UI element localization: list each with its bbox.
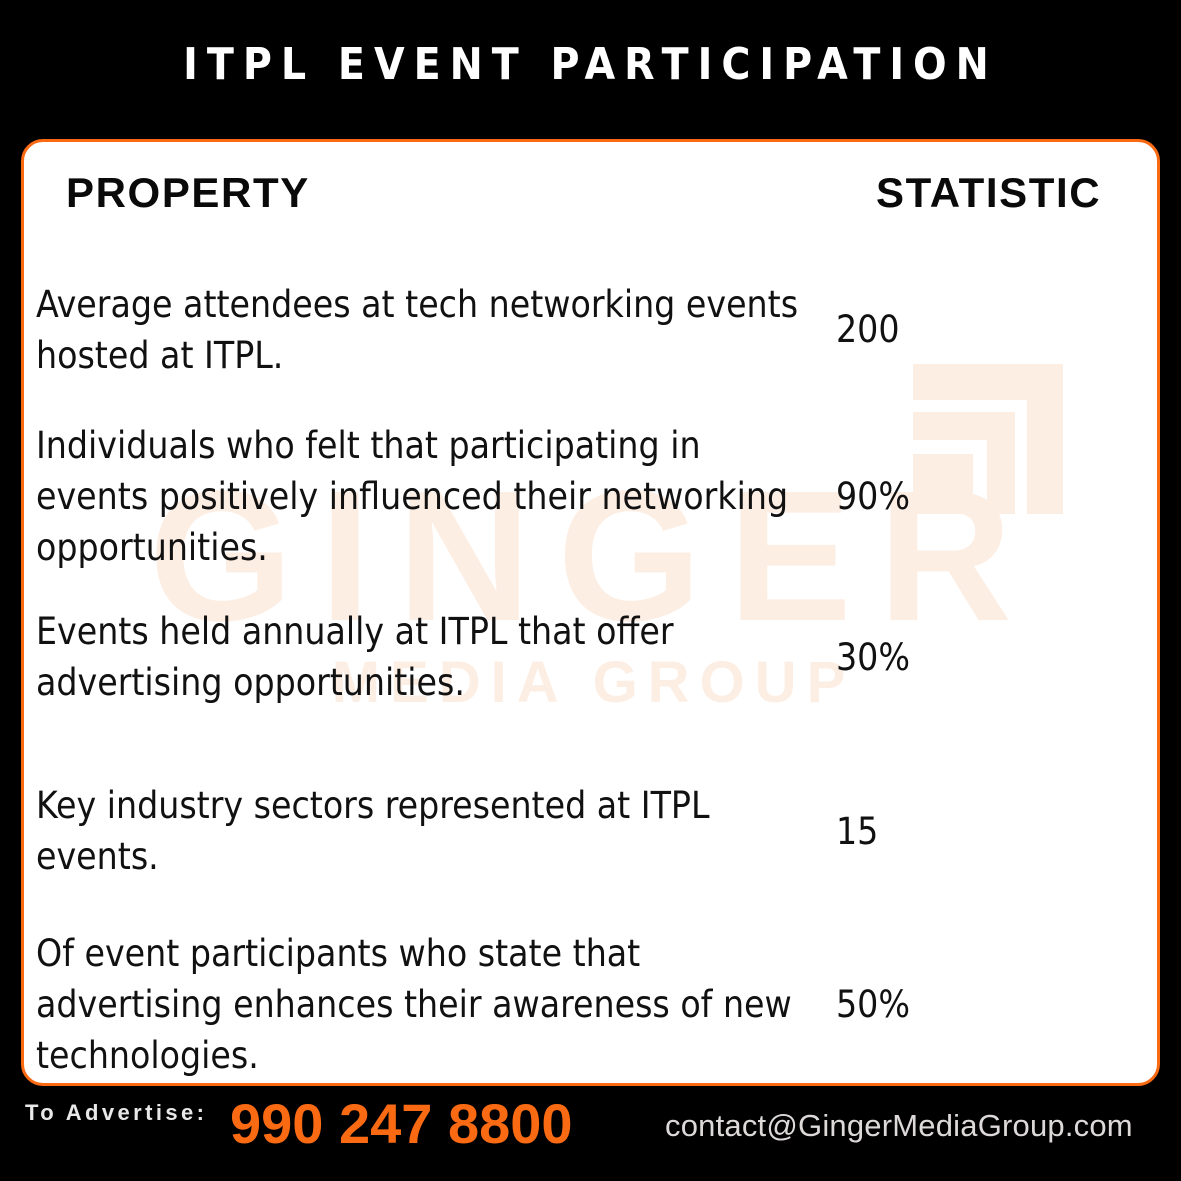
property-text: Average attendees at tech networking eve…: [24, 279, 824, 381]
table-cell-property: Key industry sectors represented at ITPL…: [24, 736, 824, 926]
table-cell-statistic: 50%: [824, 926, 1157, 1082]
table-header-row: PROPERTY STATISTIC: [24, 142, 1157, 244]
table-row: Of event participants who state that adv…: [24, 926, 1157, 1082]
statistics-table-card: GINGER MEDIA GROUP PROPERTY STATISTIC: [21, 139, 1160, 1086]
property-text: Key industry sectors represented at ITPL…: [24, 780, 824, 882]
phone-number[interactable]: 990 247 8800: [230, 1092, 573, 1156]
table-cell-property: Average attendees at tech networking eve…: [24, 244, 824, 415]
table-cell-statistic: 90%: [824, 415, 1157, 578]
statistic-value: 15: [824, 806, 1157, 857]
table-cell-statistic: 15: [824, 736, 1157, 926]
column-header-property-label: PROPERTY: [24, 169, 824, 217]
table-cell-statistic: 30%: [824, 578, 1157, 736]
property-text: Events held annually at ITPL that offer …: [24, 606, 824, 708]
statistic-value: 90%: [824, 471, 1157, 522]
statistic-value: 200: [824, 304, 1157, 355]
advertise-label: To Advertise:: [25, 1098, 235, 1128]
table-row: Average attendees at tech networking eve…: [24, 244, 1157, 415]
statistic-value: 30%: [824, 632, 1157, 683]
property-text: Of event participants who state that adv…: [24, 928, 824, 1081]
table-row: Key industry sectors represented at ITPL…: [24, 736, 1157, 926]
column-header-statistic: STATISTIC: [824, 142, 1157, 244]
table-cell-statistic: 200: [824, 244, 1157, 415]
column-header-property: PROPERTY: [24, 142, 824, 244]
table-cell-property: Events held annually at ITPL that offer …: [24, 578, 824, 736]
infographic-page: ITPL EVENT PARTICIPATION GINGER MEDIA GR…: [0, 0, 1181, 1181]
column-header-statistic-label: STATISTIC: [824, 169, 1157, 217]
statistic-value: 50%: [824, 979, 1157, 1030]
table-row: Individuals who felt that participating …: [24, 415, 1157, 578]
property-text: Individuals who felt that participating …: [24, 420, 824, 573]
footer-contact-bar: To Advertise: 990 247 8800 contact@Ginge…: [0, 1090, 1181, 1181]
table-cell-property: Of event participants who state that adv…: [24, 926, 824, 1082]
page-title: ITPL EVENT PARTICIPATION: [0, 38, 1181, 92]
statistics-table: PROPERTY STATISTIC Average attendees at …: [24, 142, 1157, 1082]
table-row: Events held annually at ITPL that offer …: [24, 578, 1157, 736]
email-address[interactable]: contact@GingerMediaGroup.com: [665, 1106, 1133, 1146]
table-cell-property: Individuals who felt that participating …: [24, 415, 824, 578]
